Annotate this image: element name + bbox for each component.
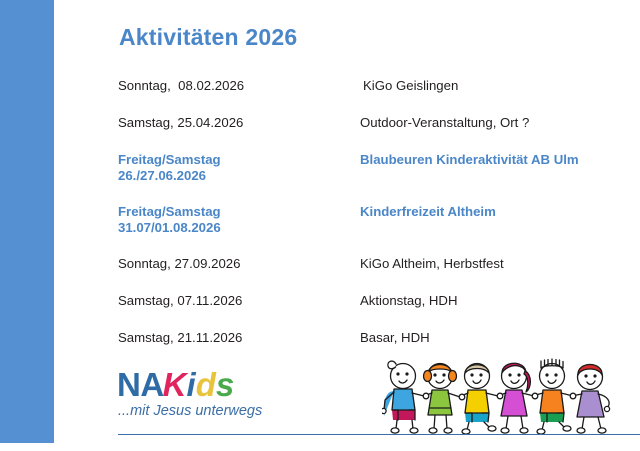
schedule-row: Samstag, 07.11.2026 Aktionstag, HDH	[118, 293, 640, 330]
schedule-row-date: Samstag, 25.04.2026	[118, 115, 360, 130]
schedule-row-date: Sonntag, 27.09.2026	[118, 256, 360, 271]
schedule-row-event: Outdoor-Veranstaltung, Ort ?	[360, 115, 640, 130]
schedule-row-highlighted: Freitag/Samstag 31.07/01.08.2026 Kinderf…	[118, 204, 640, 256]
schedule-row: Samstag, 25.04.2026 Outdoor-Veranstaltun…	[118, 115, 640, 152]
logo-wordmark: NAKids	[117, 368, 262, 402]
schedule-row: Sonntag, 27.09.2026 KiGo Altheim, Herbst…	[118, 256, 640, 293]
schedule-row-date: Samstag, 21.11.2026	[118, 330, 360, 345]
logo-letters-na: NA	[117, 366, 164, 403]
logo-letter-s: s	[216, 366, 234, 403]
schedule-row-event: KiGo Altheim, Herbstfest	[360, 256, 640, 271]
child-6	[571, 365, 610, 434]
schedule-row-event: Basar, HDH	[360, 330, 640, 345]
schedule-row-highlighted: Freitag/Samstag 26./27.06.2026 Blaubeure…	[118, 152, 640, 204]
slide-canvas: Aktivitäten 2026 Sonntag, 08.02.2026 KiG…	[0, 0, 640, 451]
children-holding-hands-illustration	[382, 358, 630, 434]
schedule-row-date: Samstag, 07.11.2026	[118, 293, 360, 308]
logo-letter-k: K	[163, 366, 187, 403]
schedule-row: Sonntag, 08.02.2026 KiGo Geislingen	[118, 78, 640, 115]
schedule-row-date: Freitag/Samstag 26./27.06.2026	[118, 152, 360, 183]
nakids-logo: NAKids ...mit Jesus unterwegs	[117, 368, 262, 419]
logo-letter-i: i	[187, 366, 196, 403]
schedule-row-event: Kinderfreizeit Altheim	[360, 204, 640, 220]
left-accent-bar	[0, 0, 54, 443]
footer-divider	[118, 434, 640, 435]
child-1	[382, 361, 424, 433]
schedule-row-date: Sonntag, 08.02.2026	[118, 78, 360, 93]
activities-schedule-list: Sonntag, 08.02.2026 KiGo Geislingen Sams…	[118, 78, 640, 367]
schedule-row-event: Aktionstag, HDH	[360, 293, 640, 308]
schedule-row-date: Freitag/Samstag 31.07/01.08.2026	[118, 204, 360, 235]
logo-letter-d: d	[196, 366, 216, 403]
logo-tagline: ...mit Jesus unterwegs	[118, 403, 262, 419]
schedule-row-event: KiGo Geislingen	[360, 78, 640, 93]
schedule-row-event: Blaubeuren Kinderaktivität AB Ulm	[360, 152, 640, 168]
page-title: Aktivitäten 2026	[119, 24, 297, 51]
